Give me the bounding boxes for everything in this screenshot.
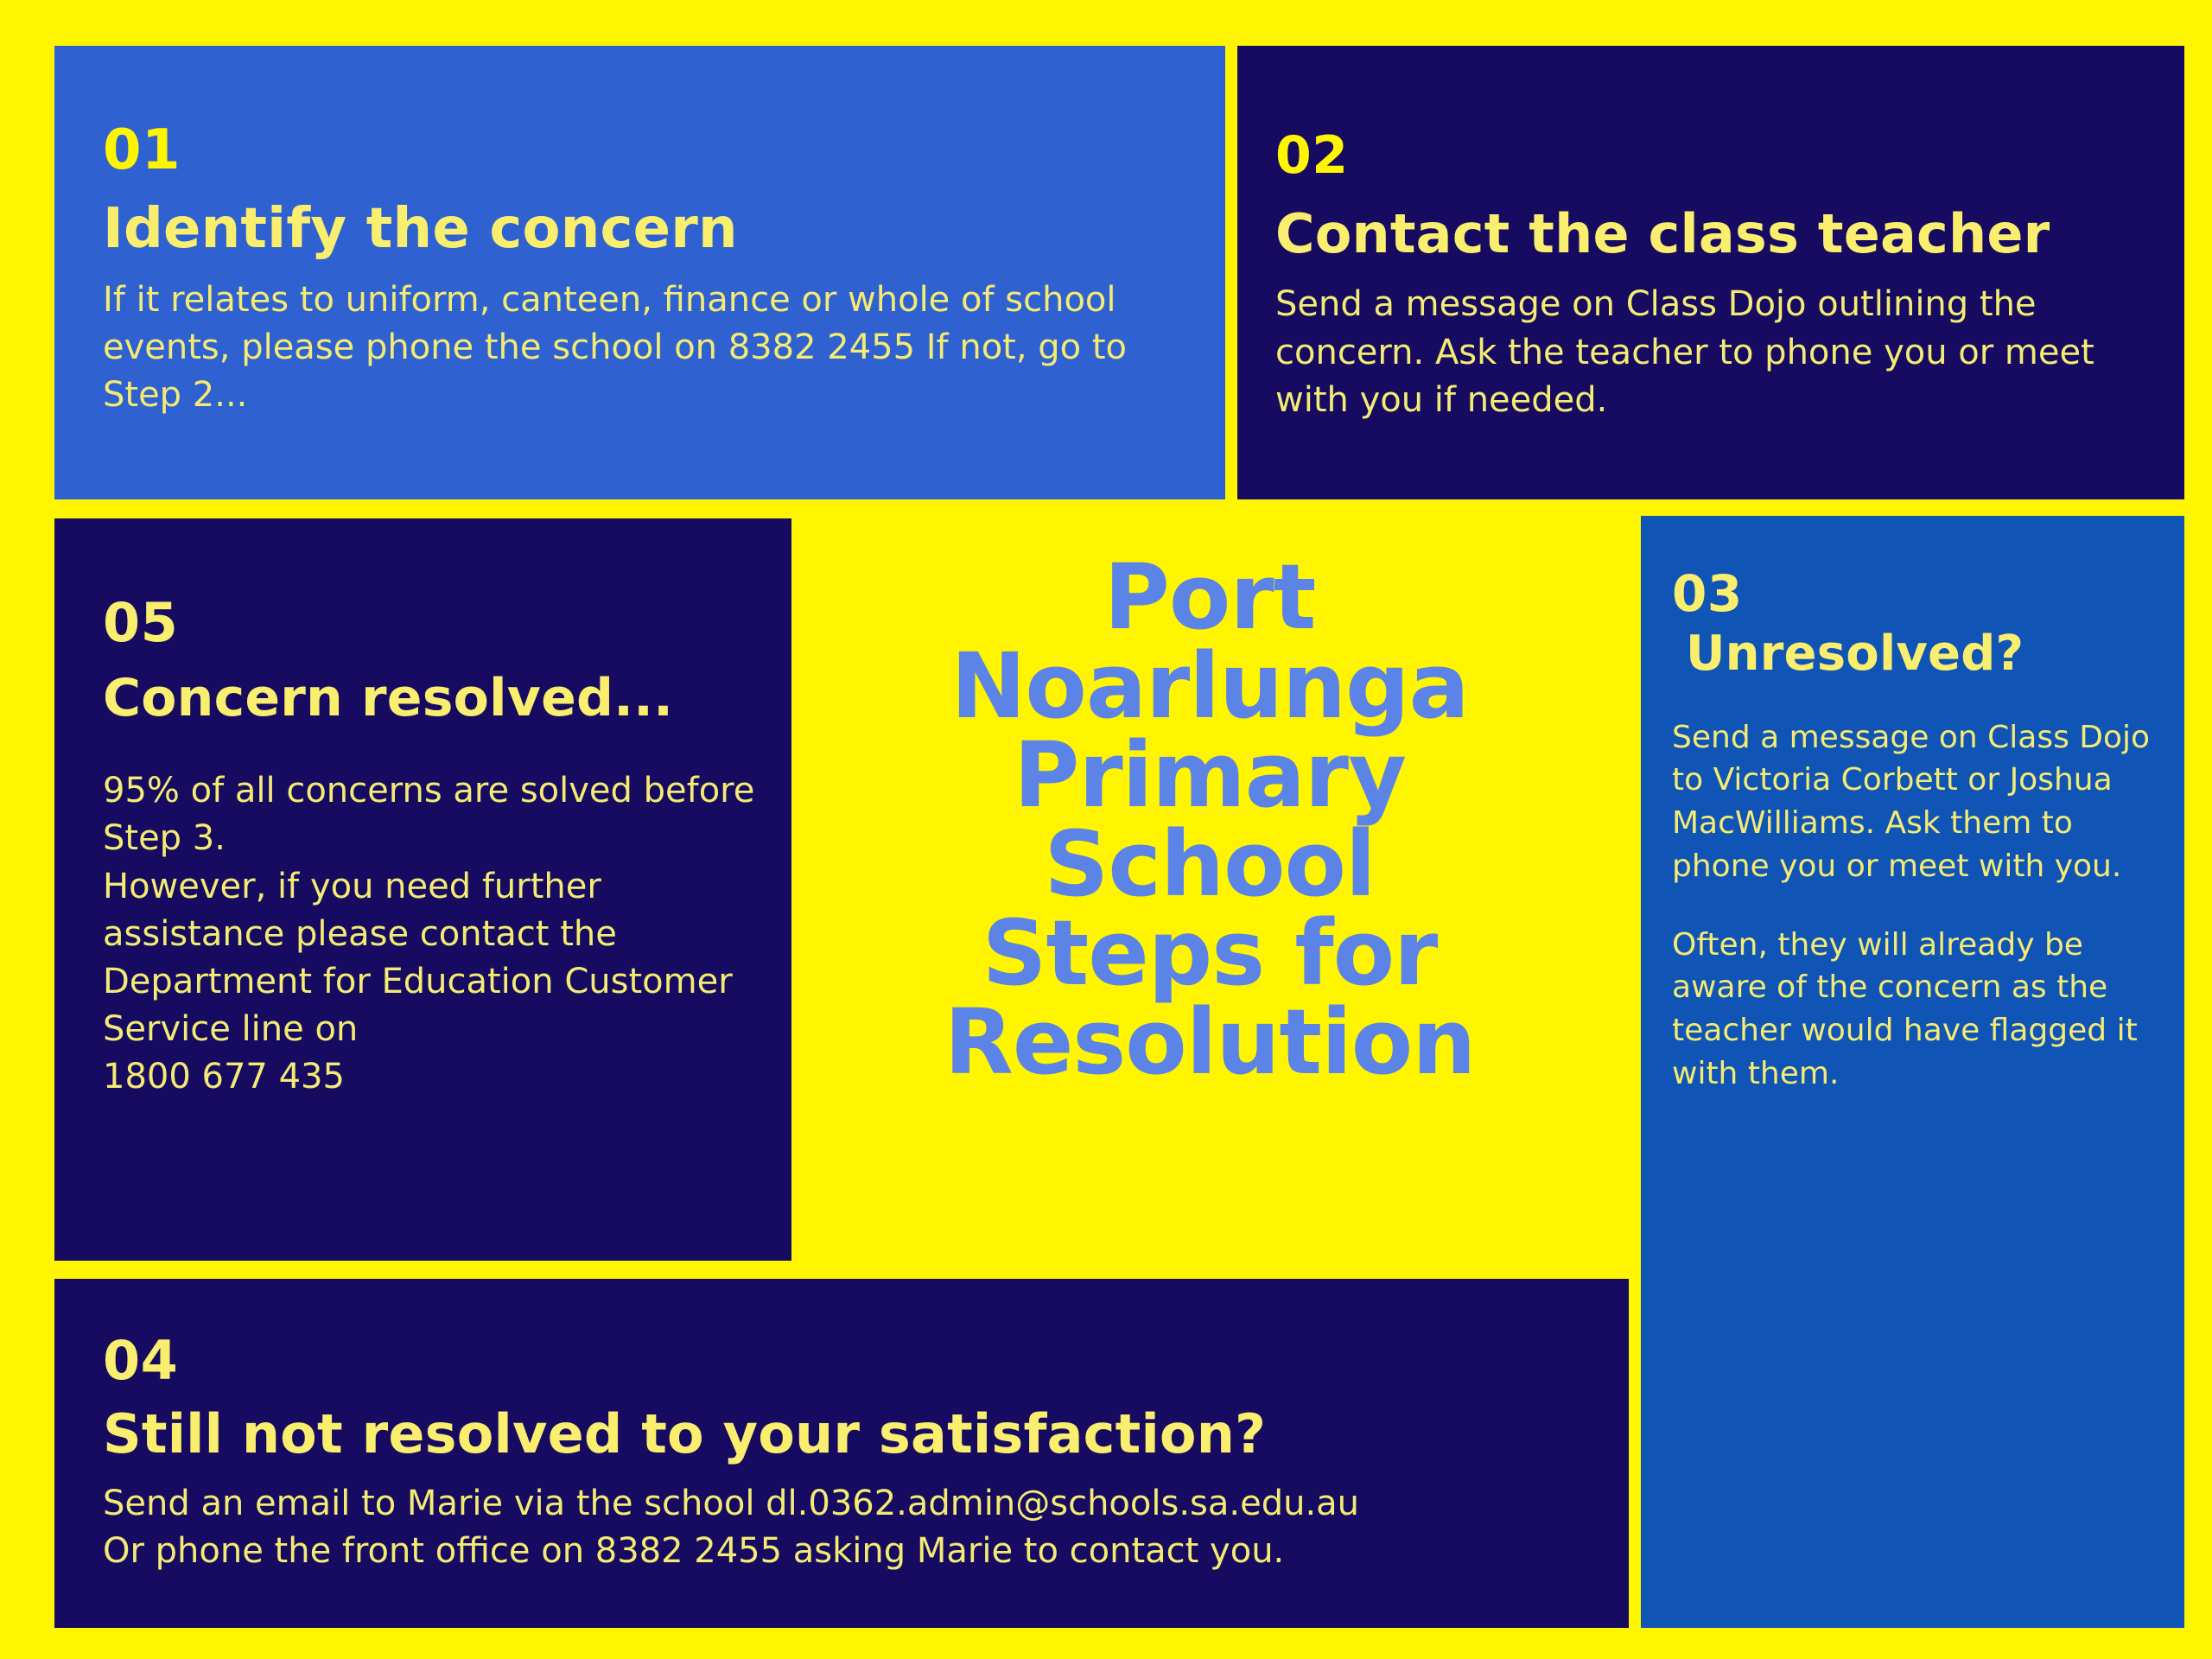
step-body-03: Send a message on Class Dojo to Victoria… — [1672, 716, 2156, 1096]
step-heading-01: Identify the concern — [103, 199, 1225, 261]
page-title: Port Noarlunga Primary School Steps for … — [864, 553, 1555, 1236]
step-card-05: 05 Concern resolved... 95% of all concer… — [54, 518, 791, 1261]
step-card-02: 02 Contact the class teacher Send a mess… — [1237, 46, 2184, 499]
poster-canvas: 01 Identify the concern If it relates to… — [0, 0, 2212, 1659]
step-number-03: 03 — [1672, 568, 2184, 620]
title-line-2: Noarlunga — [950, 642, 1468, 731]
step-number-01: 01 — [103, 122, 1225, 180]
step-body-01: If it relates to uniform, canteen, finan… — [103, 276, 1166, 420]
step-number-02: 02 — [1275, 129, 2184, 183]
step-number-04: 04 — [103, 1332, 1629, 1389]
step-body-04-line-1: Send an email to Marie via the school dl… — [103, 1480, 1589, 1528]
title-line-3: Primary — [1014, 731, 1406, 820]
title-line-1: Port — [1104, 553, 1316, 642]
step-heading-05: Concern resolved... — [103, 670, 791, 728]
step-body-03-para-1: Send a message on Class Dojo to Victoria… — [1672, 716, 2156, 888]
title-line-6: Resolution — [944, 998, 1476, 1087]
step-body-02: Send a message on Class Dojo outlining t… — [1275, 281, 2139, 424]
step-body-04-line-2: Or phone the front office on 8382 2455 a… — [103, 1528, 1589, 1575]
step-card-04: 04 Still not resolved to your satisfacti… — [54, 1279, 1629, 1628]
step-heading-02: Contact the class teacher — [1275, 204, 2184, 264]
step-heading-04: Still not resolved to your satisfaction? — [103, 1404, 1629, 1464]
step-card-03: 03 Unresolved? Send a message on Class D… — [1641, 516, 2184, 1628]
title-line-4: School — [1044, 820, 1375, 909]
title-line-5: Steps for — [982, 909, 1438, 998]
step-body-05: 95% of all concerns are solved before St… — [103, 767, 760, 1101]
step-body-04: Send an email to Marie via the school dl… — [103, 1480, 1589, 1575]
step-heading-03: Unresolved? — [1686, 627, 2184, 682]
step-number-05: 05 — [103, 594, 791, 651]
step-card-01: 01 Identify the concern If it relates to… — [54, 46, 1225, 499]
step-body-03-para-2: Often, they will already be aware of the… — [1672, 924, 2156, 1096]
